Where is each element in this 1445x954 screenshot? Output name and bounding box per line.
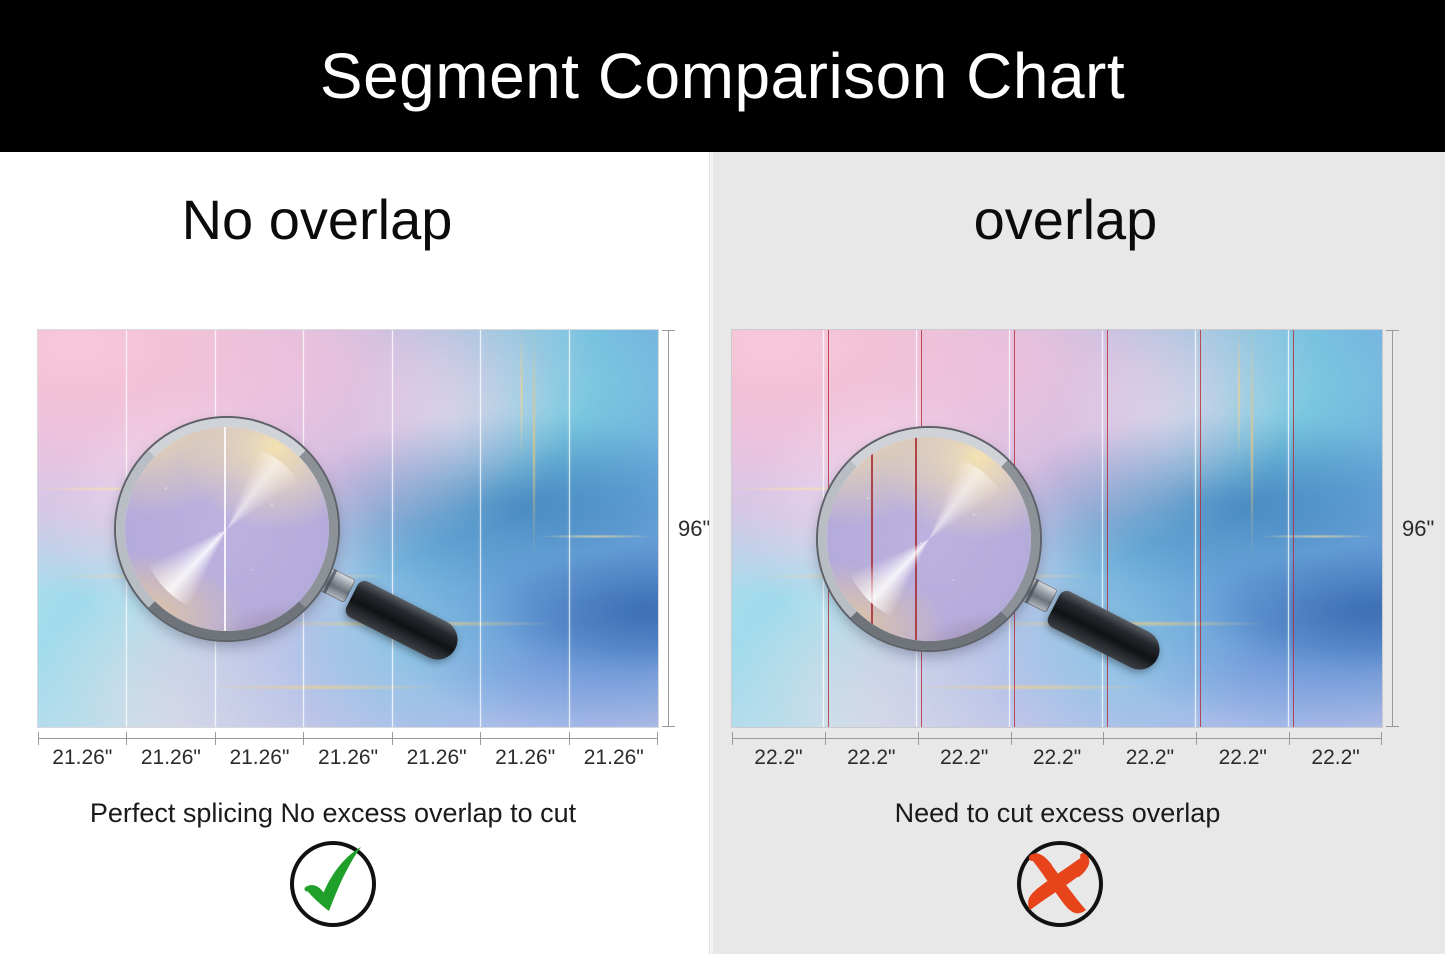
segment-width-labels-no-overlap: 21.26" 21.26" 21.26" 21.26" 21.26" 21.26… — [38, 746, 658, 770]
magnifier-seam-lines — [827, 437, 1031, 641]
panel-overlap: overlap — [710, 152, 1445, 954]
seam-line — [1102, 330, 1103, 727]
segment-width-label: 22.2" — [825, 746, 918, 770]
seam-line — [569, 330, 570, 727]
segment-width-label: 21.26" — [392, 746, 481, 770]
segment-width-label: 22.2" — [918, 746, 1011, 770]
height-dimension-overlap: 96" — [1386, 330, 1445, 727]
seam-line — [1195, 330, 1196, 727]
magnifier-lens — [818, 428, 1040, 650]
overlap-seam-line — [1293, 330, 1294, 727]
panel-heading-overlap: overlap — [698, 192, 1433, 248]
dimension-tick — [1103, 732, 1104, 745]
panel-divider — [709, 152, 713, 954]
segment-width-label: 21.26" — [304, 746, 393, 770]
verdict-overlap — [692, 836, 1427, 932]
dimension-tick — [126, 732, 127, 745]
seam-line — [1288, 330, 1289, 727]
dimension-line-horizontal — [38, 738, 658, 739]
dimension-tick — [657, 732, 658, 745]
wallpaper-figure-overlap: 96" 22.2" 22.2" 22.2" 22.2" 22.2" 2 — [732, 330, 1382, 727]
red-cross-circle-icon — [1012, 836, 1108, 932]
verdict-no-overlap — [0, 836, 688, 932]
dimension-line-vertical — [668, 330, 669, 727]
dimension-tick — [1011, 732, 1012, 745]
overlap-seam-line — [1107, 330, 1108, 727]
dimension-tick — [480, 732, 481, 745]
dimension-tick — [825, 732, 826, 745]
segment-width-label: 21.26" — [127, 746, 216, 770]
segment-width-label: 22.2" — [1196, 746, 1289, 770]
segment-width-label: 22.2" — [732, 746, 825, 770]
dimension-tick — [392, 732, 393, 745]
magnified-overlap-line — [915, 437, 917, 641]
height-label: 96" — [678, 516, 710, 542]
wallpaper-figure-no-overlap: 96" 21.26" 21.26" 21.26" 21.26" 21.26" — [38, 330, 658, 727]
comparison-panels: No overlap — [0, 152, 1445, 954]
wallpaper-image-no-overlap — [38, 330, 658, 727]
height-label: 96" — [1402, 516, 1434, 542]
page-title: Segment Comparison Chart — [320, 44, 1125, 108]
caption-no-overlap: Perfect splicing No excess overlap to cu… — [0, 800, 688, 827]
caption-overlap: Need to cut excess overlap — [690, 800, 1425, 827]
segment-width-label: 21.26" — [215, 746, 304, 770]
dimension-tick — [1289, 732, 1290, 745]
magnifier-seam-lines — [125, 427, 329, 631]
dimension-line-horizontal — [732, 738, 1382, 739]
segment-width-label: 21.26" — [38, 746, 127, 770]
dimension-tick — [1381, 732, 1382, 745]
segment-width-labels-overlap: 22.2" 22.2" 22.2" 22.2" 22.2" 22.2" 22.2… — [732, 746, 1382, 770]
dimension-tick — [303, 732, 304, 745]
overlap-seam-line — [1200, 330, 1201, 727]
panel-no-overlap: No overlap — [0, 152, 710, 954]
magnifier-lens — [116, 418, 338, 640]
seam-line — [392, 330, 393, 727]
width-dimension-overlap: 22.2" 22.2" 22.2" 22.2" 22.2" 22.2" 22.2… — [732, 732, 1382, 776]
magnified-seam-line — [224, 427, 226, 631]
width-dimension-no-overlap: 21.26" 21.26" 21.26" 21.26" 21.26" 21.26… — [38, 732, 658, 776]
dimension-tick — [918, 732, 919, 745]
title-bar: Segment Comparison Chart — [0, 0, 1445, 152]
seam-line — [480, 330, 481, 727]
dimension-tick — [38, 732, 39, 745]
segment-width-label: 22.2" — [1289, 746, 1382, 770]
panel-heading-no-overlap: No overlap — [0, 192, 672, 248]
segment-width-label: 22.2" — [1103, 746, 1196, 770]
dimension-tick — [569, 732, 570, 745]
dimension-tick — [215, 732, 216, 745]
segment-width-label: 21.26" — [481, 746, 570, 770]
dimension-tick — [732, 732, 733, 745]
dimension-tick — [1196, 732, 1197, 745]
wallpaper-image-overlap — [732, 330, 1382, 727]
dimension-line-vertical — [1392, 330, 1393, 727]
magnified-overlap-line — [871, 437, 873, 641]
green-check-circle-icon — [285, 836, 381, 932]
segment-width-label: 21.26" — [569, 746, 658, 770]
segment-width-label: 22.2" — [1011, 746, 1104, 770]
